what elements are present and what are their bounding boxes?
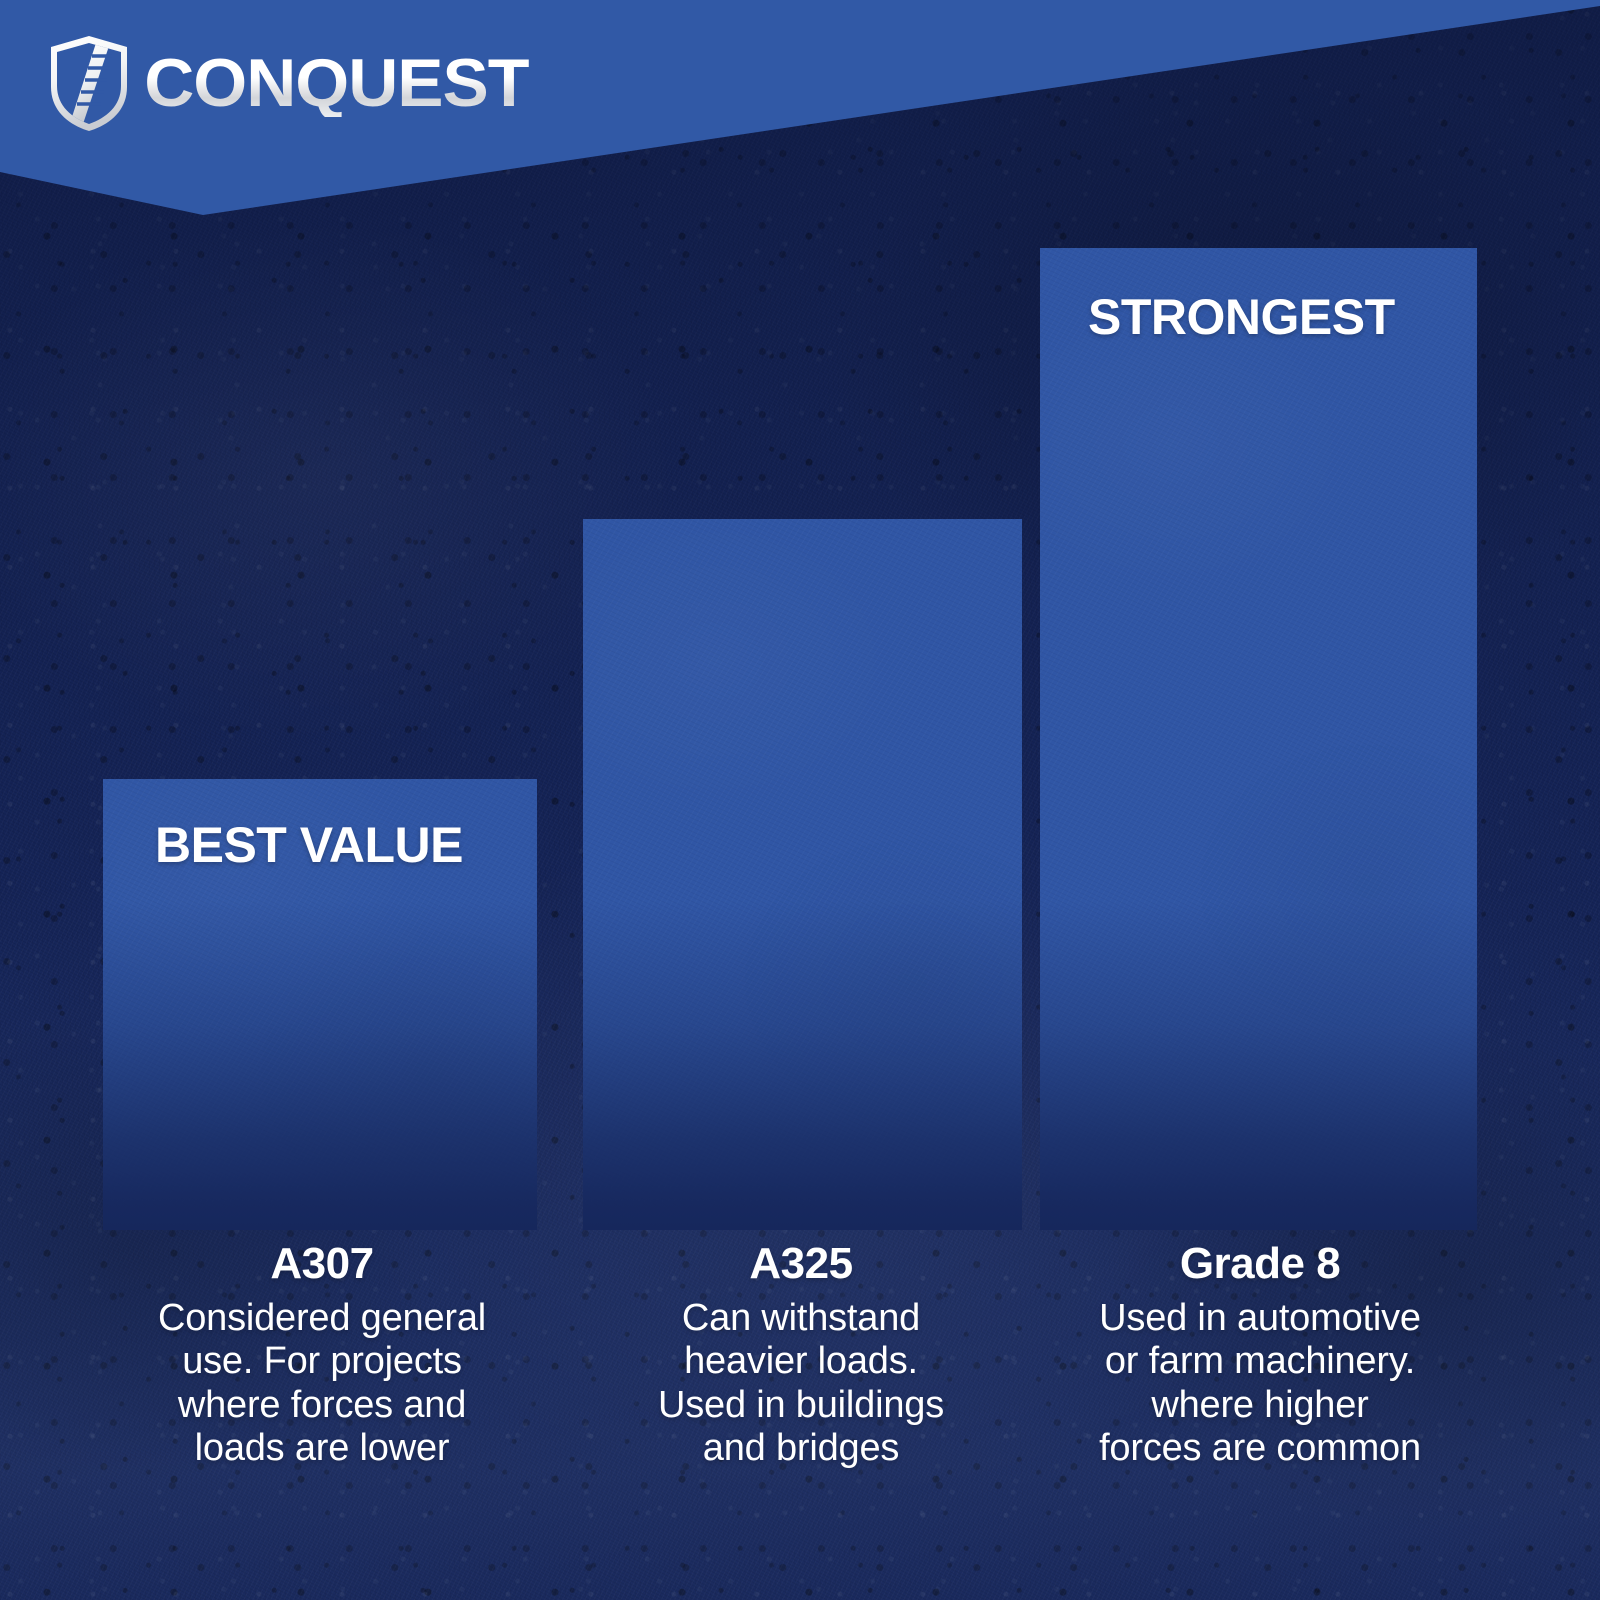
bar-title-a325: A325 [578, 1242, 1024, 1287]
label-column-a325: A325 Can withstand heavier loads. Used i… [578, 1242, 1024, 1470]
bar-a325 [583, 519, 1022, 1230]
bar-title-a307: A307 [100, 1242, 544, 1287]
bar-grade-8 [1040, 248, 1477, 1230]
badge-strongest: STRONGEST [1088, 292, 1395, 342]
bar-description-a307: Considered general use. For projects whe… [100, 1297, 544, 1470]
label-column-grade-8: Grade 8 Used in automotive or farm machi… [1036, 1242, 1484, 1470]
infographic-poster: CONQUEST BEST VALUE STRONGEST A307 Consi… [0, 0, 1600, 1600]
badge-best-value: BEST VALUE [155, 820, 463, 870]
label-column-a307: A307 Considered general use. For project… [100, 1242, 544, 1470]
shield-bolt-icon [46, 34, 132, 132]
brand-logo[interactable]: CONQUEST [46, 34, 525, 132]
brand-wordmark: CONQUEST [144, 49, 529, 117]
bar-title-grade-8: Grade 8 [1036, 1242, 1484, 1287]
bar-description-a325: Can withstand heavier loads. Used in bui… [578, 1297, 1024, 1470]
bar-description-grade-8: Used in automotive or farm machinery. wh… [1036, 1297, 1484, 1470]
